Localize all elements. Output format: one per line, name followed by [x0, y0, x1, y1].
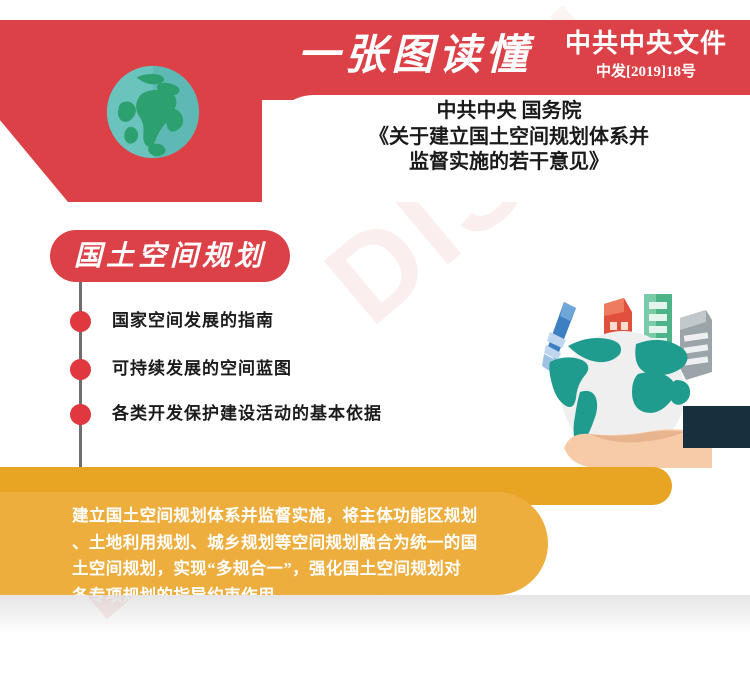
- globe-icon: [105, 64, 201, 160]
- summary-line-2: 、土地利用规划、城乡规划等空间规划融合为统一的国: [72, 530, 532, 557]
- document-title-line-2: 《关于建立国土空间规划体系并: [296, 125, 722, 151]
- document-title-panel: 中共中央 国务院 《关于建立国土空间规划体系并 监督实施的若干意见》: [268, 95, 750, 197]
- infographic-canvas: DI DIST D 一张图读懂 中共中央文件 中发[2019]18号 中共中央: [0, 0, 750, 689]
- list-item-label: 可持续发展的空间蓝图: [112, 356, 292, 382]
- summary-text: 建立国土空间规划体系并监督实施，将主体功能区规划 、土地利用规划、城乡规划等空间…: [72, 503, 532, 610]
- list-item-label: 各类开发保护建设活动的基本依据: [112, 401, 382, 427]
- section-label-badge: 国土空间规划: [50, 230, 290, 282]
- document-meta: 中共中央文件 中发[2019]18号: [548, 28, 744, 83]
- document-title-line-3: 监督实施的若干意见》: [296, 150, 722, 176]
- document-title: 中共中央 国务院 《关于建立国土空间规划体系并 监督实施的若干意见》: [268, 99, 750, 176]
- document-issuer: 中共中央文件: [548, 28, 744, 60]
- list-item: 可持续发展的空间蓝图: [0, 356, 560, 384]
- list-item: 国家空间发展的指南: [0, 308, 560, 336]
- list-item-label: 国家空间发展的指南: [112, 308, 274, 334]
- gray-tower-icon: [680, 310, 712, 380]
- dark-sleeve: [683, 406, 750, 448]
- document-number: 中发[2019]18号: [548, 61, 744, 83]
- bullet-dot-icon: [70, 359, 91, 380]
- bullet-dot-icon: [70, 404, 91, 425]
- summary-line-4: 各专项规划的指导约束作用。: [72, 583, 532, 610]
- summary-line-1: 建立国土空间规划体系并监督实施，将主体功能区规划: [72, 503, 532, 530]
- summary-line-3: 土空间规划，实现“多规合一”，强化国土空间规划对: [72, 556, 532, 583]
- page-title: 一张图读懂: [290, 26, 540, 86]
- document-title-line-1: 中共中央 国务院: [296, 99, 722, 125]
- bullet-dot-icon: [70, 311, 91, 332]
- list-item: 各类开发保护建设活动的基本依据: [0, 401, 560, 429]
